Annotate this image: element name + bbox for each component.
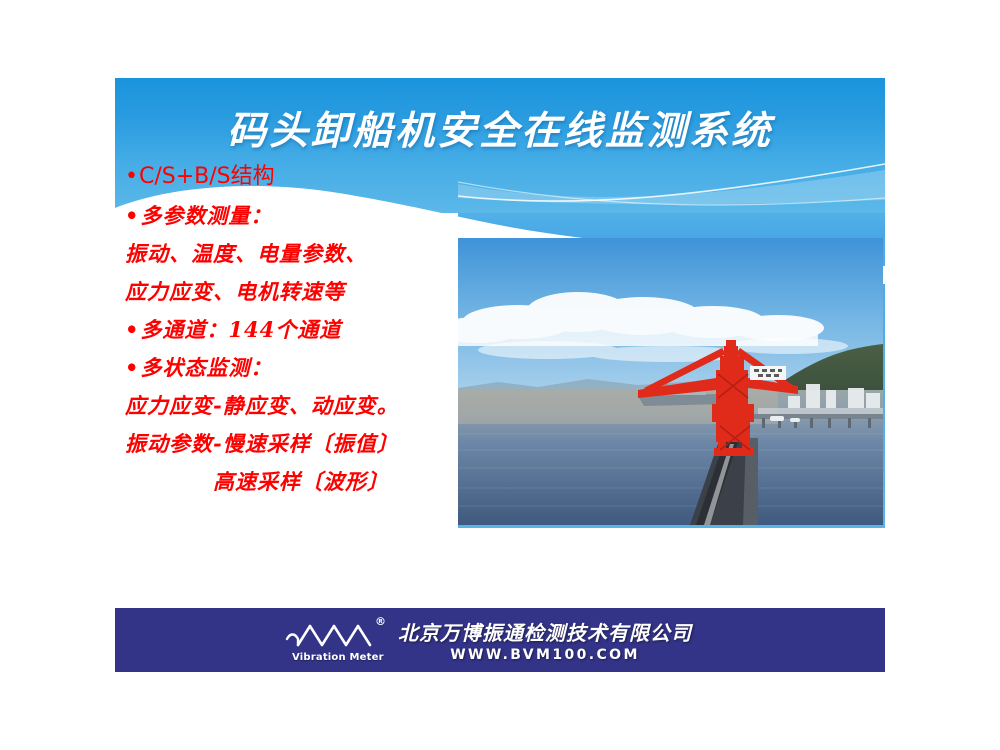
bullet-item-6: 应力应变-静应变、动应变。 (125, 395, 485, 416)
bullet-item-8: 高速采样〔波形〕 (125, 471, 485, 492)
bullet-item-4: 多通道：144个通道 (125, 319, 485, 340)
bullet-item-5: 多状态监测： (125, 357, 485, 378)
slide-canvas: 码头卸船机安全在线监测系统 C/S+B/S结构 多参数测量： 振动、温度、电量参… (115, 78, 885, 672)
bullet-item-1: 多参数测量： (125, 205, 485, 226)
bullet-item-7: 振动参数-慢速采样〔振值〕 (125, 433, 485, 454)
vibration-meter-logo: ® Vibration Meter (284, 616, 388, 664)
bullet-item-0: C/S+B/S结构 (125, 166, 485, 188)
bullet-list: C/S+B/S结构 多参数测量： 振动、温度、电量参数、 应力应变、电机转速等 … (125, 166, 485, 509)
logo-subtitle: Vibration Meter (292, 652, 384, 663)
company-name: 北京万博振通检测技术有限公司 (398, 617, 692, 646)
footer-bar: ® Vibration Meter 北京万博振通检测技术有限公司 WWW.BVM… (115, 608, 885, 672)
waveform-icon (284, 618, 380, 652)
page-title: 码头卸船机安全在线监测系统 (115, 100, 885, 156)
bullet-item-2: 振动、温度、电量参数、 (125, 243, 485, 264)
bullet-item-3: 应力应变、电机转速等 (125, 281, 485, 302)
registered-trademark-icon: ® (375, 615, 386, 628)
company-website: WWW.BVM100.COM (398, 647, 692, 663)
port-ship-unloader-photo (458, 238, 883, 525)
